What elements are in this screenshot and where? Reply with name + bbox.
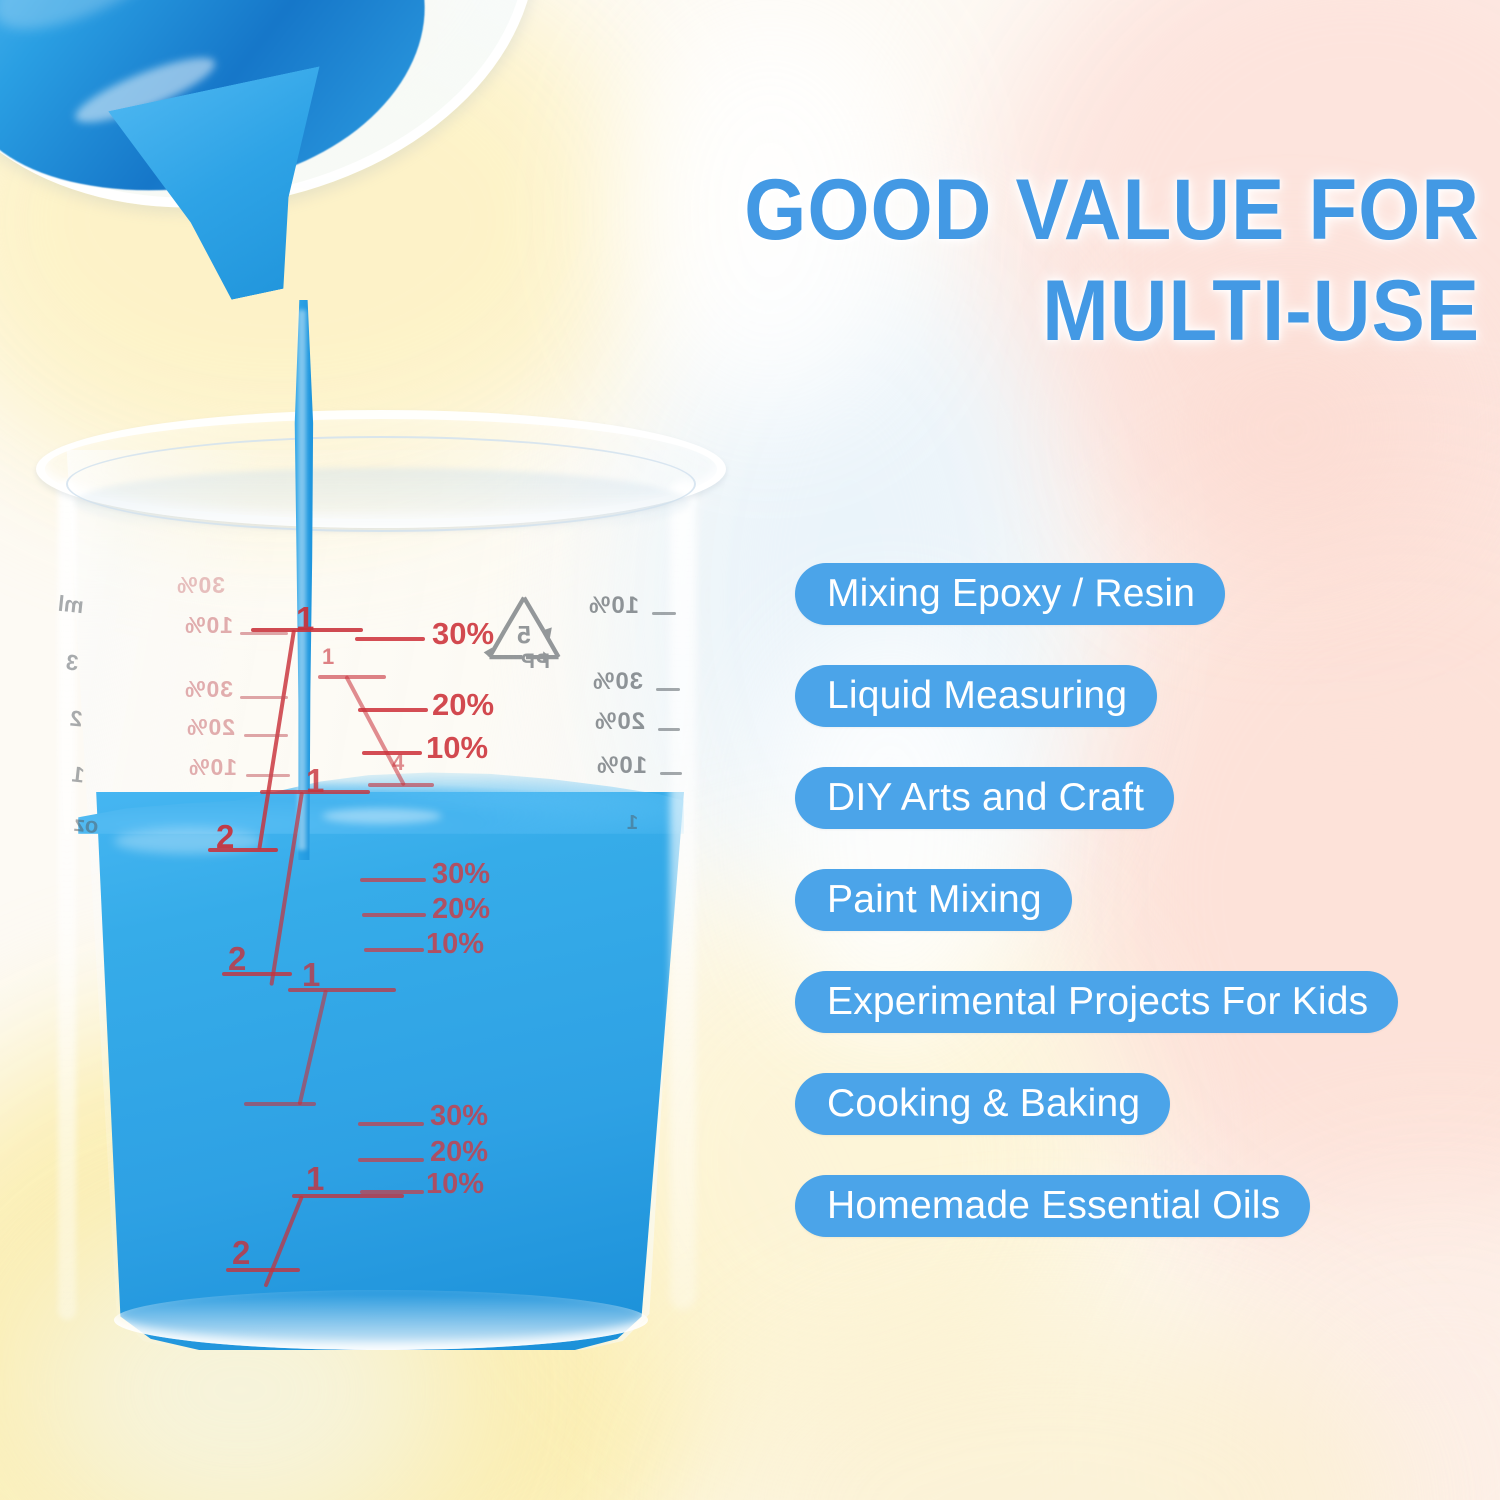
recycle-material-label: PP <box>520 650 550 674</box>
feature-pill-experimental-projects-for-kids[interactable]: Experimental Projects For Kids <box>795 971 1398 1033</box>
far-tick <box>652 612 676 615</box>
ratio-label-2: 2 <box>228 940 246 978</box>
far-mark-10b: 10% <box>596 752 647 780</box>
ratio-label-1: 1 <box>296 600 314 638</box>
inner-ratio-bar-bottom <box>368 783 434 787</box>
left-tick <box>240 632 288 635</box>
feature-pill-diy-arts-and-craft[interactable]: DIY Arts and Craft <box>795 767 1174 829</box>
scale-tick-10 <box>364 948 424 952</box>
scale-label-10-pct: 10% <box>426 1168 484 1201</box>
scale-label-30-pct: 30% <box>430 1100 488 1133</box>
scale-tick-30 <box>355 637 425 641</box>
liquid-highlight <box>322 808 442 824</box>
feature-pill-liquid-measuring[interactable]: Liquid Measuring <box>795 665 1157 727</box>
scale-label-20-pct: 20% <box>432 687 494 723</box>
feature-pill-paint-mixing[interactable]: Paint Mixing <box>795 869 1072 931</box>
left-mark-10: 10% <box>184 612 233 639</box>
far-mark-misc: 1 <box>626 812 638 835</box>
scale-tick-30 <box>360 878 426 882</box>
scale-label-20-pct: 20% <box>430 1136 488 1169</box>
ratio2-bar-bottom <box>244 1102 316 1106</box>
feature-row: Paint Mixing <box>795 869 1398 971</box>
ratio-label-2: 2 <box>216 818 234 856</box>
feature-row: Mixing Epoxy / Resin <box>795 563 1398 665</box>
page-title: GOOD VALUE FOR MULTI-USE <box>569 160 1480 363</box>
inner-ratio-bar-top <box>318 675 386 679</box>
ratio-label-1: 1 <box>306 1160 324 1198</box>
cup-bottom <box>114 1290 648 1350</box>
feature-pill-mixing-epoxy-resin[interactable]: Mixing Epoxy / Resin <box>795 563 1225 625</box>
feature-pill-homemade-essential-oils[interactable]: Homemade Essential Oils <box>795 1175 1310 1237</box>
measuring-cup <box>22 410 740 1370</box>
far-tick <box>660 772 682 775</box>
inner-ratio-label-4: 4 <box>392 750 404 776</box>
cup-highlight-right <box>670 480 696 1310</box>
cup-rim-shadow <box>74 468 690 538</box>
far-mark-30: 30% <box>592 668 643 696</box>
far-mark-10: 10% <box>588 592 639 620</box>
ratio-label-2: 2 <box>232 1234 250 1272</box>
pour-stream-highlight <box>298 310 306 850</box>
scale-label-10-pct: 10% <box>426 730 488 766</box>
far-tick <box>656 688 680 691</box>
headline-line-1: GOOD VALUE FOR <box>569 160 1480 261</box>
scale-tick-30 <box>358 1122 424 1126</box>
left-mark-10b: 10% <box>188 754 237 781</box>
scale-label-10-pct: 10% <box>426 928 484 961</box>
scale-tick-20 <box>358 1158 424 1162</box>
left-mark-20: 20% <box>186 714 235 741</box>
left-mark-30: 30% <box>176 572 225 599</box>
ratio-label-1: 1 <box>306 762 324 800</box>
ratio2-label-1: 1 <box>302 956 320 994</box>
emboss-mark: ml <box>57 591 85 620</box>
feature-pill-cooking-and-baking[interactable]: Cooking & Baking <box>795 1073 1170 1135</box>
feature-list: Mixing Epoxy / Resin Liquid Measuring DI… <box>795 563 1398 1277</box>
feature-row: Cooking & Baking <box>795 1073 1398 1175</box>
scale-label-20-pct: 20% <box>432 893 490 926</box>
recycling-symbol: 5 PP <box>474 588 574 684</box>
scale-tick-20 <box>358 708 428 712</box>
far-mark-20: 20% <box>594 708 645 736</box>
product-marketing-image: GOOD VALUE FOR MULTI-USE Mixing Epoxy / … <box>0 0 1500 1500</box>
inner-ratio-label-1: 1 <box>322 644 334 670</box>
scale-tick-20 <box>362 913 426 917</box>
feature-row: Homemade Essential Oils <box>795 1175 1398 1277</box>
emboss-mark: oz <box>73 811 100 839</box>
feature-row: DIY Arts and Craft <box>795 767 1398 869</box>
cup-liquid <box>78 792 684 1350</box>
far-tick <box>658 728 680 731</box>
left-tick <box>240 696 288 699</box>
recycle-code-text: 5 <box>517 622 531 650</box>
left-mark-30b: 30% <box>184 676 233 703</box>
feature-row: Experimental Projects For Kids <box>795 971 1398 1073</box>
left-tick <box>246 774 290 777</box>
left-tick <box>244 734 288 737</box>
scale-label-30-pct: 30% <box>432 858 490 891</box>
headline-line-2: MULTI-USE <box>569 261 1480 362</box>
feature-row: Liquid Measuring <box>795 665 1398 767</box>
